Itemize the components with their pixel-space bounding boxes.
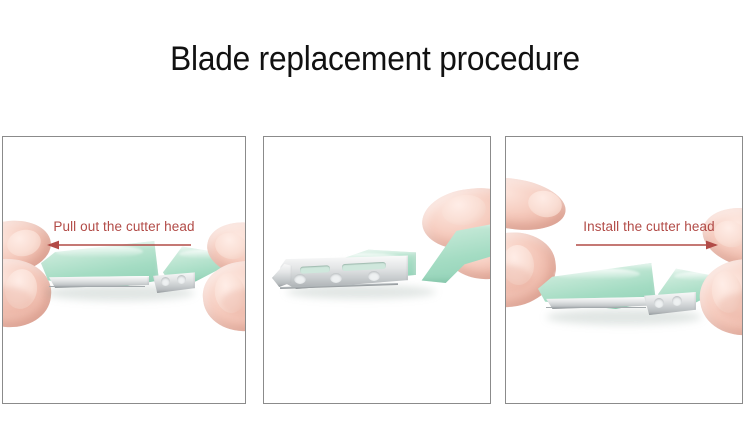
blade-notch-3: [368, 271, 380, 281]
blade-carrier-notch-1: [161, 277, 170, 286]
procedure-panel-1: Pull out the cutter head: [2, 136, 246, 404]
panel-1-photo: [3, 137, 245, 403]
blade-carrier-notch-2: [672, 296, 682, 306]
panel-1-annotation: Pull out the cutter head: [17, 219, 231, 251]
blade-carrier-notch-1: [654, 298, 664, 308]
blade-notch-2: [330, 273, 342, 283]
panel-2-photo: [264, 137, 490, 403]
blade-carrier-notch-2: [177, 275, 186, 284]
blade-notch-1: [294, 274, 306, 284]
page-title: Blade replacement procedure: [26, 38, 724, 80]
panel-3-photo: [506, 137, 742, 403]
arrow-right-icon: [558, 239, 740, 251]
cutter-head-highlight: [554, 268, 640, 280]
procedure-panel-2: [263, 136, 491, 404]
procedure-panel-3: Install the cutter head: [505, 136, 743, 404]
cutter-head-blade-edge: [546, 307, 646, 308]
panel-1-caption: Pull out the cutter head: [17, 219, 231, 235]
arrow-left-icon: [17, 239, 231, 251]
procedure-panel-group: Pull out the cutter head: [2, 136, 743, 406]
panel-3-annotation: Install the cutter head: [558, 219, 740, 251]
panel-3-caption: Install the cutter head: [558, 219, 740, 235]
cutter-head-blade-edge: [49, 286, 145, 287]
